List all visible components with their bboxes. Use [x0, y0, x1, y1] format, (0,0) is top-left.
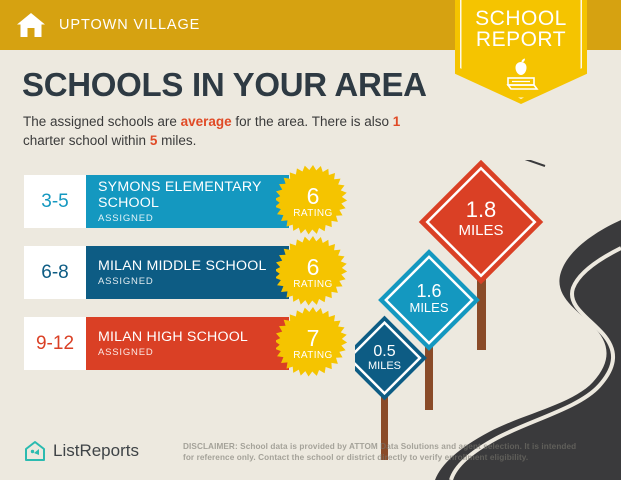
rating-caption: RATING	[293, 350, 332, 361]
infographic-page: UPTOWN VILLAGE SCHOOL REPORT SCHOOLS IN …	[0, 0, 621, 480]
school-name: MILAN HIGH SCHOOL	[98, 329, 289, 345]
grade-range-label: 9-12	[36, 333, 74, 355]
school-info-box: MILAN HIGH SCHOOL ASSIGNED	[86, 317, 289, 370]
apple-icon	[491, 56, 551, 94]
grade-range-label: 3-5	[41, 191, 68, 213]
rating-caption: RATING	[293, 208, 332, 219]
page-title: SCHOOLS IN YOUR AREA	[22, 66, 427, 104]
subtitle-highlight-average: average	[181, 114, 232, 129]
logo-text: ListReports	[53, 441, 139, 461]
sign-distance: 1.8	[466, 197, 497, 222]
home-icon	[16, 11, 46, 39]
page-subtitle: The assigned schools are average for the…	[23, 112, 443, 150]
school-status: ASSIGNED	[98, 276, 289, 287]
subtitle-text-4: miles.	[157, 133, 196, 148]
rating-badge: 6 RATING	[276, 165, 350, 239]
badge-title-line2: REPORT	[455, 29, 587, 50]
school-info-box: MILAN MIDDLE SCHOOL ASSIGNED	[86, 246, 289, 299]
book-icon	[508, 78, 537, 89]
school-row[interactable]: 3-5 SYMONS ELEMENTARY SCHOOL ASSIGNED	[24, 175, 289, 228]
header-title: UPTOWN VILLAGE	[59, 17, 200, 33]
disclaimer-text: DISCLAIMER: School data is provided by A…	[183, 441, 583, 463]
school-status: ASSIGNED	[98, 213, 289, 224]
school-report-badge: SCHOOL REPORT	[455, 0, 587, 104]
grade-range-label: 6-8	[41, 262, 68, 284]
grade-range-box: 3-5	[24, 175, 86, 228]
sign-unit: MILES	[368, 360, 401, 372]
listreports-logo: ListReports	[24, 440, 139, 462]
sign-unit: MILES	[409, 300, 448, 315]
rating-badge: 7 RATING	[276, 307, 350, 381]
school-status: ASSIGNED	[98, 347, 289, 358]
school-row[interactable]: 6-8 MILAN MIDDLE SCHOOL ASSIGNED	[24, 246, 289, 299]
subtitle-highlight-count: 1	[393, 114, 401, 129]
school-name: MILAN MIDDLE SCHOOL	[98, 258, 289, 274]
badge-icons	[455, 56, 587, 99]
sign-distance: 0.5	[373, 343, 395, 360]
subtitle-text-1: The assigned schools are	[23, 114, 181, 129]
sign-distance: 1.6	[416, 281, 441, 301]
subtitle-text-3: charter school within	[23, 133, 150, 148]
school-info-box: SYMONS ELEMENTARY SCHOOL ASSIGNED	[86, 175, 289, 228]
subtitle-text-2: for the area. There is also	[232, 114, 393, 129]
rating-caption: RATING	[293, 279, 332, 290]
road-scene: 1.8 MILES 1.6 MILES 0.5 MILES	[355, 160, 621, 480]
sign-unit: MILES	[458, 222, 503, 239]
rating-value: 6	[307, 256, 320, 278]
grade-range-box: 9-12	[24, 317, 86, 370]
school-row[interactable]: 9-12 MILAN HIGH SCHOOL ASSIGNED	[24, 317, 289, 370]
badge-title-line1: SCHOOL	[455, 0, 587, 29]
grade-range-box: 6-8	[24, 246, 86, 299]
listreports-house-tag-icon	[24, 440, 46, 462]
rating-badge: 6 RATING	[276, 236, 350, 310]
rating-value: 7	[307, 327, 320, 349]
school-name: SYMONS ELEMENTARY SCHOOL	[98, 179, 289, 211]
rating-value: 6	[307, 185, 320, 207]
